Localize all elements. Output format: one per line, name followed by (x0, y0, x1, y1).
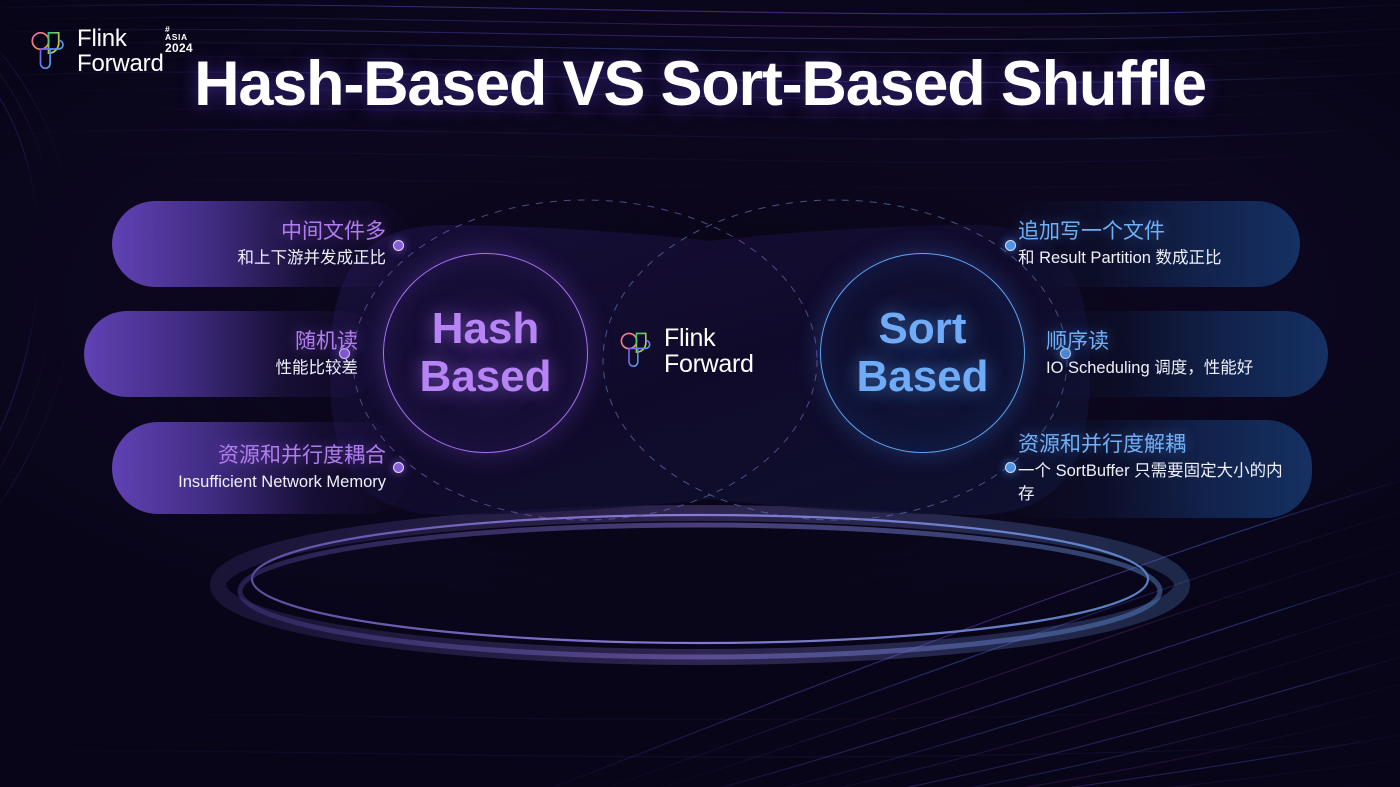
sort-circle-line2: Based (856, 353, 988, 401)
sort-feature-item-1: 追加写一个文件 和 Result Partition 数成正比 (992, 201, 1300, 287)
logo-event-name: # ASIA (165, 25, 193, 43)
center-logo-line1: Flink (664, 325, 754, 351)
hash-circle-line2: Based (419, 353, 551, 401)
hash-feature-item-3: 资源和并行度耦合 Insufficient Network Memory (112, 422, 412, 514)
sort-feature-3-sub: 一个 SortBuffer 只需要固定大小的内存 (1018, 460, 1286, 507)
flink-forward-logo-icon (618, 329, 654, 373)
sort-feature-1-sub: 和 Result Partition 数成正比 (1018, 247, 1222, 270)
hash-feature-item-1: 中间文件多 和上下游并发成正比 (112, 201, 412, 287)
hash-feature-3-heading: 资源和并行度耦合 (218, 442, 386, 470)
hash-feature-1-heading: 中间文件多 (281, 218, 386, 246)
hash-circle-line1: Hash (419, 305, 551, 353)
hash-based-circle: Hash Based (383, 253, 588, 453)
sort-circle-line1: Sort (856, 305, 988, 353)
hash-feature-2-heading: 随机读 (295, 328, 358, 356)
brand-logo-center: Flink Forward (618, 322, 798, 380)
hash-feature-2-sub: 性能比较差 (276, 357, 359, 380)
hash-feature-item-2: 随机读 性能比较差 (84, 311, 384, 397)
sort-feature-2-heading: 顺序读 (1046, 328, 1109, 356)
slide: Flink Forward # ASIA 2024 Hash-Based VS … (0, 0, 1400, 787)
logo-text-line1: Flink (77, 27, 164, 51)
center-logo-line2: Forward (664, 351, 754, 377)
stage-ring-decoration (190, 505, 1210, 685)
sort-feature-3-heading: 资源和并行度解耦 (1018, 431, 1186, 459)
hash-feature-1-sub: 和上下游并发成正比 (238, 247, 387, 270)
sort-feature-1-heading: 追加写一个文件 (1018, 218, 1165, 246)
sort-feature-item-3: 资源和并行度解耦 一个 SortBuffer 只需要固定大小的内存 (992, 420, 1312, 518)
sort-based-circle: Sort Based (820, 253, 1025, 453)
page-title: Hash-Based VS Sort-Based Shuffle (0, 48, 1400, 120)
sort-feature-item-2: 顺序读 IO Scheduling 调度，性能好 (1020, 311, 1328, 397)
hash-feature-3-sub: Insufficient Network Memory (178, 471, 386, 494)
sort-feature-2-sub: IO Scheduling 调度，性能好 (1046, 357, 1253, 380)
